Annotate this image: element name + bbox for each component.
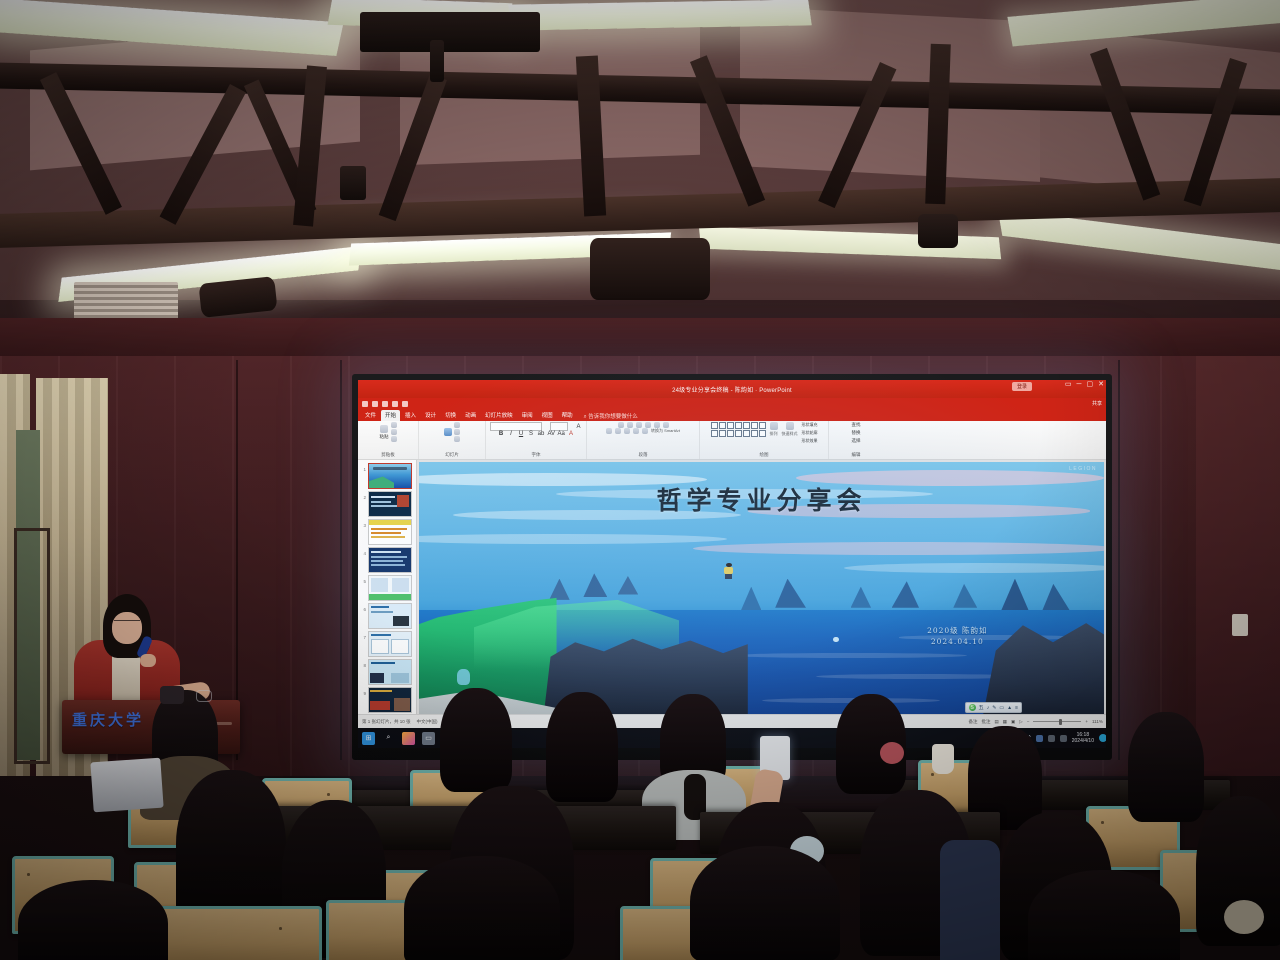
ceiling-device [918,214,958,248]
align-right-button[interactable] [624,428,630,434]
shape-pentagon-icon[interactable] [719,430,726,437]
ceiling-device [430,40,444,82]
volume-icon[interactable] [1060,735,1067,742]
group-label-drawing: 绘图 [760,452,769,458]
tell-me-label: 告诉我你想要做什么 [588,414,638,420]
ribbon-group-paragraph[interactable]: 转换为 SmartArt 段落 [587,421,700,459]
align-left-button[interactable] [606,428,612,434]
shapes-gallery[interactable] [711,422,766,437]
thumbnail-number: 6 [360,603,366,612]
thumbnail-slide-8[interactable] [368,659,412,685]
tab-animations[interactable]: 动画 [461,410,480,421]
thumbnail-slide-4[interactable] [368,547,412,573]
minimize-icon[interactable]: ─ [1077,381,1082,388]
thumbnail-item[interactable]: 8 [358,658,416,686]
status-right[interactable]: 备注 批注 ▤ ▦ ▣ ▷ − + 111% ⛶ [968,719,1106,725]
ime-toolbox-icon[interactable]: ▲ [1007,705,1012,711]
ime-mode[interactable]: 五 [979,704,984,711]
shape-arrow-icon[interactable] [735,422,742,429]
presenter-glasses [114,620,140,627]
shape-outline-button[interactable]: 形状轮廓 [802,430,818,436]
shape-roundrect-icon[interactable] [759,422,766,429]
thumbnail-number: 3 [360,519,366,528]
podium-university-name: 重庆大学 [72,709,144,730]
onedrive-icon[interactable] [1036,735,1043,742]
paste-button[interactable]: 粘贴 [380,425,389,440]
strikethrough-button[interactable]: ab [538,431,545,437]
ribbon-tabs[interactable]: 文件 开始 插入 设计 切换 动画 幻灯片放映 审阅 视图 帮助 ⌕ 告诉我你想… [358,409,1106,421]
select-button[interactable]: 选择 [852,438,861,444]
format-painter-button[interactable] [391,436,397,442]
thumbnail-item[interactable]: 9 [358,686,416,714]
find-button[interactable]: 查找 [852,422,861,428]
comments-button[interactable]: 批注 [981,719,990,725]
zoom-out-button[interactable]: − [1027,719,1030,724]
new-slide-button[interactable] [444,428,452,436]
shape-curve-icon[interactable] [743,422,750,429]
thumbnail-item[interactable]: 7 [358,630,416,658]
shape-freeform-icon[interactable] [743,430,750,437]
group-label-font: 字体 [532,452,541,458]
powerpoint-title-bar: 24级专业分享会终稿 - 陈韵如 · PowerPoint 登录 ▭ ─ ▢ ✕ [358,380,1106,398]
weather-icon[interactable] [402,732,415,745]
tab-home[interactable]: 开始 [381,410,400,421]
quick-styles-button[interactable] [782,422,798,430]
audience-head [18,880,168,960]
thumbnail-number: 9 [360,687,366,696]
arrange-label: 排列 [770,431,778,437]
thumbnail-item[interactable]: 1 [358,462,416,490]
shape-triangle-icon[interactable] [719,422,726,429]
clock-date: 2024/4/10 [1072,738,1094,744]
ribbon-group-font[interactable]: A B I U S ab AV Aa A 字体 [486,421,587,459]
presenter-hand [140,654,156,667]
coffee-cup [932,744,954,774]
justify-button[interactable] [633,428,639,434]
shape-line-icon[interactable] [727,422,734,429]
tab-file[interactable]: 文件 [361,410,380,421]
thumbnail-item[interactable]: 4 [358,546,416,574]
thumbnail-item[interactable]: 5 [358,574,416,602]
thumbnail-slide-1[interactable] [368,463,412,489]
shape-oval-icon[interactable] [751,422,758,429]
ceiling-light-bar [508,0,812,31]
sogou-logo-icon[interactable]: S [969,704,976,711]
figure-on-cliff [724,563,734,579]
font-color-button[interactable]: A [568,431,575,437]
view-normal-icon[interactable]: ▤ [994,719,998,725]
wall-seam [340,360,342,760]
view-reading-icon[interactable]: ▣ [1011,719,1015,725]
tab-help[interactable]: 帮助 [558,410,577,421]
group-label-slides: 幻灯片 [445,452,459,458]
reset-button[interactable] [454,429,460,435]
thumbnail-slide-9[interactable] [368,687,412,713]
italic-button[interactable]: I [508,431,515,437]
wall-seam [1118,360,1120,760]
font-size-input[interactable] [550,422,568,431]
character-spacing-button[interactable]: AV [548,431,555,437]
audience-hair-clip [160,686,184,704]
audience-head [546,692,618,802]
shape-effects-button[interactable]: 形状效果 [802,438,818,444]
thumbnail-number: 8 [360,659,366,668]
zoom-in-button[interactable]: + [1085,719,1088,724]
thumbnail-number: 4 [360,547,366,556]
ribbon-group-slides[interactable]: 幻灯片 [419,421,486,459]
share-label: 共享 [1092,401,1102,407]
view-sorter-icon[interactable]: ▦ [1003,719,1007,725]
group-label-paragraph: 段落 [639,452,648,458]
sign-in-button[interactable]: 登录 [1012,382,1032,391]
shadow-button[interactable]: S [528,431,535,437]
window-title: 24级专业分享会终稿 - 陈韵如 · PowerPoint [672,385,792,394]
shape-square-icon[interactable] [711,430,718,437]
shape-brace-icon[interactable] [727,430,734,437]
thumbnail-item[interactable]: 3 [358,518,416,546]
task-view-icon[interactable]: ▭ [422,732,435,745]
current-slide[interactable]: 哲学专业分享会 LEGION [419,462,1104,727]
layout-button[interactable] [454,422,460,428]
thumbnail-slide-7[interactable] [368,631,412,657]
start-icon[interactable]: ⊞ [362,732,375,745]
ime-voice-icon[interactable]: ♪ [987,705,990,711]
change-case-button[interactable]: Aa [558,431,565,437]
laptop [90,758,163,813]
copy-button[interactable] [391,429,397,435]
tab-view[interactable]: 视图 [538,410,557,421]
underline-button[interactable]: U [518,431,525,437]
search-icon[interactable]: ⌕ [382,732,395,745]
ime-menu-icon[interactable]: ≡ [1015,705,1018,711]
quick-styles-label: 快速样式 [782,431,798,437]
bold-button[interactable]: B [498,431,505,437]
wave [734,653,967,658]
shape-star-icon[interactable] [759,430,766,437]
quick-access-toolbar[interactable] [358,398,1106,409]
window-controls[interactable]: ▭ ─ ▢ ✕ [1065,381,1104,388]
lecture-hall-photo: 24级专业分享会终稿 - 陈韵如 · PowerPoint 登录 ▭ ─ ▢ ✕… [0,0,1280,960]
thumbnail-slide-5[interactable] [368,575,412,601]
slide-subtitle-line2: 2024.04.10 [927,637,987,648]
thumbnail-number: 7 [360,631,366,640]
cut-button[interactable] [391,422,397,428]
tab-transitions[interactable]: 切换 [441,410,460,421]
align-center-button[interactable] [615,428,621,434]
increase-font-size-button[interactable]: A [575,424,582,430]
tab-review[interactable]: 审阅 [518,410,537,421]
ime-toolbar[interactable]: S 五 ♪ ✎ ▭ ▲ ≡ [965,702,1022,713]
clock-time: 16:18 [1077,732,1090,738]
hvac-vent [74,282,178,320]
slide-thumbnail-panel[interactable]: 1 2 [358,460,417,728]
close-icon[interactable]: ✕ [1098,381,1104,388]
ceiling-speaker [590,238,710,300]
taskbar-clock[interactable]: 16:18 2024/4/10 [1072,732,1094,745]
shape-rectangle-icon[interactable] [711,422,718,429]
audience-scrunchie [1224,900,1264,934]
ceiling-device [340,166,366,200]
ribbon-group-clipboard[interactable]: 粘贴 剪贴板 [358,421,419,459]
side-wall-right [1196,356,1280,776]
replace-button[interactable]: 替换 [852,430,861,436]
ribbon-group-editing[interactable]: 查找 替换 选择 编辑 [829,421,883,459]
thumbnail-number: 2 [360,491,366,500]
customize-icon[interactable] [402,401,408,407]
tab-design[interactable]: 设计 [421,410,440,421]
thumbnail-item[interactable]: 2 [358,490,416,518]
action-center-icon[interactable] [1099,734,1106,742]
share-button[interactable]: 共享 [1092,400,1102,407]
convert-smartart-button[interactable]: 转换为 SmartArt [651,428,680,434]
cloud [693,542,1104,555]
zoom-level[interactable]: 111% [1092,719,1103,724]
save-icon[interactable] [362,401,368,407]
ribbon-display-options-icon[interactable]: ▭ [1065,381,1072,388]
audience-head [1028,870,1180,960]
powerpoint-window: 24级专业分享会终稿 - 陈韵如 · PowerPoint 登录 ▭ ─ ▢ ✕… [358,380,1106,728]
legion-watermark: LEGION [1069,466,1097,472]
tab-insert[interactable]: 插入 [401,410,420,421]
audience-glasses [196,690,212,702]
wall-switch-plate[interactable] [1232,614,1248,636]
group-label-clipboard: 剪贴板 [381,452,395,458]
slide-subtitle-line1: 2020级 陈韵如 [927,626,987,637]
thumbnail-slide-6[interactable] [368,603,412,629]
ime-screenshot-icon[interactable]: ▭ [999,705,1004,711]
font-family-input[interactable] [490,422,542,431]
audience-head [1128,712,1204,822]
section-button[interactable] [454,436,460,442]
present-icon[interactable] [392,401,398,407]
shape-fill-button[interactable]: 形状填充 [802,422,818,428]
maximize-icon[interactable]: ▢ [1087,381,1094,388]
system-tray[interactable]: ^ 16:18 2024/4/10 [1028,732,1106,745]
shape-callout-icon[interactable] [751,430,758,437]
audience-shoulder [940,840,1000,960]
blue-creature [457,669,471,685]
thumbnail-item[interactable]: 6 [358,602,416,630]
audience-scrunchie [880,742,904,764]
redo-icon[interactable] [382,401,388,407]
shape-connector-icon[interactable] [735,430,742,437]
ribbon-content[interactable]: 粘贴 剪贴板 [358,421,1106,460]
network-icon[interactable] [1048,735,1055,742]
slide-editing-area[interactable]: 哲学专业分享会 LEGION [417,460,1106,728]
zoom-slider[interactable] [1033,721,1081,722]
audience-head [404,856,560,960]
presenter-face [112,612,142,644]
slide-indicator: 第 1 张幻灯片，共 10 张 [362,719,411,725]
projector-mount [360,12,540,52]
slide-subtitle[interactable]: 2020级 陈韵如 2024.04.10 [927,626,987,648]
columns-button[interactable] [642,428,648,434]
water-glint [833,637,838,642]
thumbnail-slide-3[interactable] [368,519,412,545]
view-slideshow-icon[interactable]: ▷ [1019,719,1022,725]
window-frame [14,528,50,764]
ribbon-group-drawing[interactable]: 排列 快速样式 形状填充 形状轮廓 形状效果 [700,421,829,459]
arrange-button[interactable] [770,422,778,430]
tell-me-search[interactable]: ⌕ 告诉我你想要做什么 [584,412,638,421]
thumbnail-slide-2[interactable] [368,491,412,517]
undo-icon[interactable] [372,401,378,407]
language-indicator[interactable]: 中文(中国) [417,719,438,725]
slide-title[interactable]: 哲学专业分享会 [419,481,1104,517]
audience-head [440,688,512,792]
thumbnail-number: 5 [360,575,366,584]
thumbnail-number: 1 [360,463,366,472]
ime-handwriting-icon[interactable]: ✎ [992,705,996,711]
audience-head [690,846,840,960]
group-label-editing: 编辑 [852,452,861,458]
notes-button[interactable]: 备注 [968,719,977,725]
tab-slideshow[interactable]: 幻灯片放映 [481,410,517,421]
